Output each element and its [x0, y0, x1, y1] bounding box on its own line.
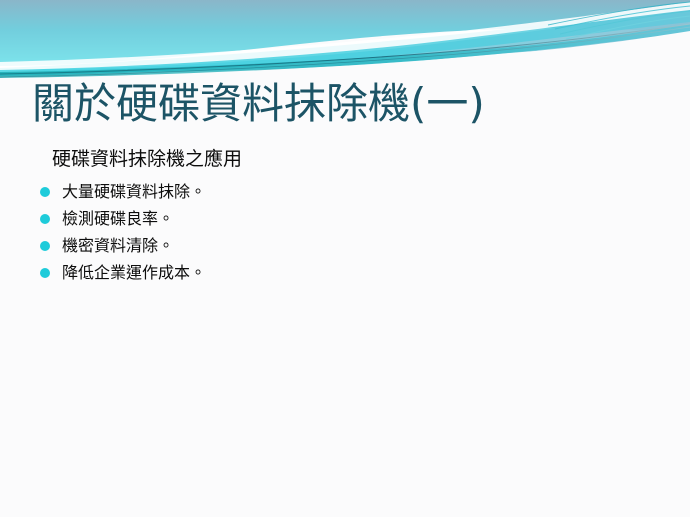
bullet-dot-icon: [40, 268, 50, 278]
slide-title: 關於硬碟資料抹除機(一): [32, 78, 485, 130]
bullet-list: 大量硬碟資料抹除。 檢測硬碟良率。 機密資料清除。 降低企業運作成本。: [0, 178, 640, 286]
list-item: 機密資料清除。: [0, 232, 640, 259]
slide: 關於硬碟資料抹除機(一) 硬碟資料抹除機之應用 大量硬碟資料抹除。 檢測硬碟良率…: [0, 0, 690, 517]
body-subtitle: 硬碟資料抹除機之應用: [0, 146, 640, 172]
slide-content-area: [0, 295, 690, 517]
list-item-label: 機密資料清除。: [62, 232, 174, 259]
title-row: 關於硬碟資料抹除機(一): [0, 78, 690, 136]
bullet-dot-icon: [40, 241, 50, 251]
list-item-label: 降低企業運作成本。: [62, 259, 206, 286]
list-item: 檢測硬碟良率。: [0, 205, 640, 232]
slide-body: 硬碟資料抹除機之應用 大量硬碟資料抹除。 檢測硬碟良率。 機密資料清除。 降低企…: [0, 146, 640, 286]
list-item: 降低企業運作成本。: [0, 259, 640, 286]
bullet-dot-icon: [40, 214, 50, 224]
bullet-dot-icon: [40, 187, 50, 197]
list-item-label: 檢測硬碟良率。: [62, 205, 174, 232]
list-item: 大量硬碟資料抹除。: [0, 178, 640, 205]
header-wave-decoration: [0, 0, 690, 90]
list-item-label: 大量硬碟資料抹除。: [62, 178, 206, 205]
